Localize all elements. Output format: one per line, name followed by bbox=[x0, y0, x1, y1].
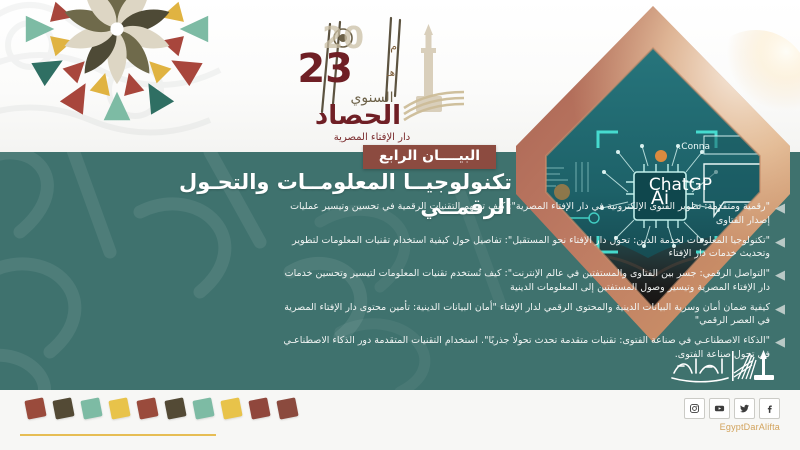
social-handle: EgyptDarAlifta bbox=[720, 422, 780, 432]
bullet-text: "التواصل الرقمي: جسر بين الفتاوى والمستف… bbox=[276, 267, 770, 295]
list-item: ◀ كيفية ضمان أمان وسرية البيانات الدينية… bbox=[276, 301, 786, 329]
facebook-glyph bbox=[764, 403, 775, 414]
social-links bbox=[684, 398, 780, 419]
decorative-square bbox=[220, 397, 242, 419]
decorative-square bbox=[108, 397, 130, 419]
harvest-logo-art: 20 23 م هـ السنوي الحصاد دار الإفتاء الم… bbox=[296, 4, 486, 146]
statement-badge: البيــــان الرابع bbox=[363, 145, 496, 169]
decorative-square bbox=[276, 397, 298, 419]
harvest-logo: 20 23 م هـ السنوي الحصاد دار الإفتاء الم… bbox=[296, 4, 486, 146]
bullet-text: كيفية ضمان أمان وسرية البيانات الدينية و… bbox=[276, 301, 770, 329]
decorative-square bbox=[136, 397, 158, 419]
dar-alifta-logo bbox=[666, 347, 786, 387]
decorative-square bbox=[80, 397, 102, 419]
decorative-squares-row bbox=[26, 399, 297, 418]
twitter-icon[interactable] bbox=[734, 398, 755, 419]
bullet-marker-icon: ◀ bbox=[774, 236, 786, 249]
logo-org-name: دار الإفتاء المصرية bbox=[334, 132, 410, 143]
list-item: ◀ "رقمية ومتقدمة: تطوير الفتوى الإلكترون… bbox=[276, 200, 786, 228]
poster-root: 20 23 م هـ السنوي الحصاد دار الإفتاء الم… bbox=[0, 0, 800, 450]
list-item: ◀ "التواصل الرقمي: جسر بين الفتاوى والمس… bbox=[276, 267, 786, 295]
logo-harvest-word: الحصاد bbox=[315, 101, 401, 131]
youtube-icon[interactable] bbox=[709, 398, 730, 419]
decorative-square bbox=[24, 397, 46, 419]
islamic-rosette-icon bbox=[22, 0, 212, 124]
youtube-glyph bbox=[714, 403, 725, 414]
twitter-glyph bbox=[739, 403, 750, 414]
list-item: ◀ "تكنولوجيا المعلومات لخدمة الدين: تحول… bbox=[276, 234, 786, 262]
chat-bubble-label: ChatGP bbox=[649, 175, 712, 195]
bullet-list: ◀ "رقمية ومتقدمة: تطوير الفتوى الإلكترون… bbox=[276, 200, 786, 368]
dar-alifta-logo-art bbox=[666, 347, 786, 387]
gold-divider bbox=[20, 434, 216, 436]
bullet-text: "رقمية ومتقدمة: تطوير الفتوى الإلكترونية… bbox=[276, 200, 770, 228]
bullet-marker-icon: ◀ bbox=[774, 269, 786, 282]
decorative-square bbox=[192, 397, 214, 419]
logo-suffix-h: هـ bbox=[386, 68, 395, 79]
instagram-icon[interactable] bbox=[684, 398, 705, 419]
decorative-square bbox=[164, 397, 186, 419]
logo-suffix-m: م bbox=[390, 40, 397, 53]
bullet-text: "تكنولوجيا المعلومات لخدمة الدين: تحول د… bbox=[276, 234, 770, 262]
conna-tag-label: Conna. bbox=[678, 142, 710, 152]
decorative-square bbox=[52, 397, 74, 419]
decorative-square bbox=[248, 397, 270, 419]
logo-year-big: 23 bbox=[297, 46, 353, 92]
facebook-icon[interactable] bbox=[759, 398, 780, 419]
bullet-marker-icon: ◀ bbox=[774, 202, 786, 215]
instagram-glyph bbox=[689, 403, 700, 414]
bullet-marker-icon: ◀ bbox=[774, 303, 786, 316]
